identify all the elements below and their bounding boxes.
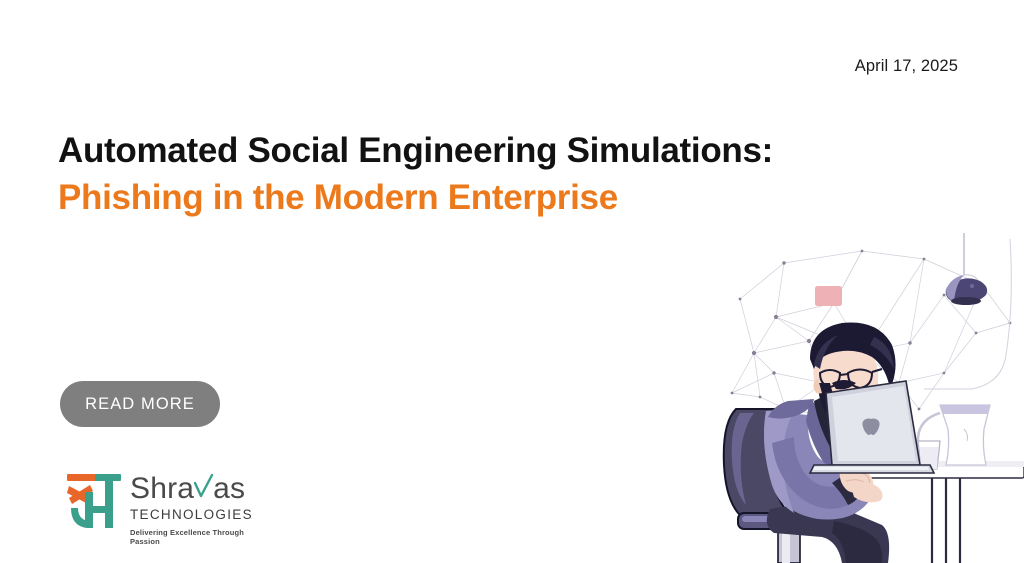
brand-logo[interactable]: Shra as TECHNOLOGIES Delivering Excellen… (62, 466, 262, 548)
title-line-accent: Phishing in the Modern Enterprise (58, 175, 918, 222)
logo-wordmark: Shra as TECHNOLOGIES Delivering Excellen… (130, 466, 262, 546)
publish-date: April 17, 2025 (855, 57, 958, 76)
read-more-label: READ MORE (85, 395, 195, 414)
slide-canvas: April 17, 2025 Automated Social Engineer… (0, 0, 1024, 563)
logo-tagline: Delivering Excellence Through Passion (130, 528, 262, 546)
logo-subtitle: TECHNOLOGIES (130, 507, 262, 522)
sticky-note-icon (815, 286, 842, 306)
hero-illustration (714, 233, 1024, 563)
wall-outline (924, 239, 1011, 389)
pendant-lamp-icon (946, 233, 987, 305)
page-title: Automated Social Engineering Simulations… (58, 128, 918, 221)
logo-check-icon (194, 474, 213, 500)
shravas-devanagari-mark-icon (62, 468, 124, 534)
logo-brand-part-2: as (213, 474, 245, 504)
read-more-button[interactable]: READ MORE (60, 381, 220, 427)
logo-brand-part-1: Shra (130, 474, 194, 504)
title-line-primary: Automated Social Engineering Simulations… (58, 128, 918, 175)
logo-brand-name: Shra as (130, 472, 262, 504)
